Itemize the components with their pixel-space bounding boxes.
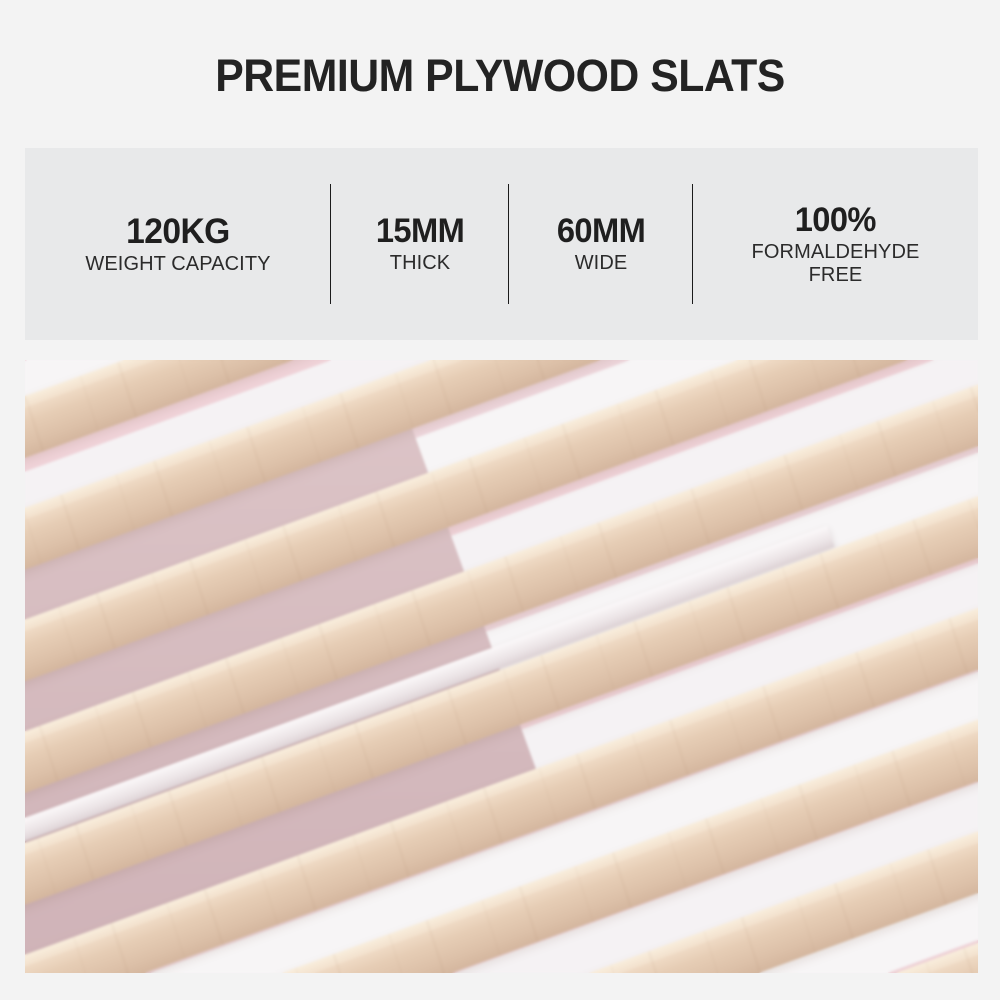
spec-label: WIDE xyxy=(575,252,628,274)
spec-bar: 120KG WEIGHT CAPACITY 15MM THICK 60MM WI… xyxy=(25,148,978,340)
spec-value: 120KG xyxy=(126,213,230,250)
spec-label: THICK xyxy=(390,252,451,274)
plywood-slat xyxy=(25,360,978,698)
spec-item-thickness: 15MM THICK xyxy=(331,148,509,340)
spec-item-width: 60MM WIDE xyxy=(509,148,693,340)
page-title: PREMIUM PLYWOOD SLATS xyxy=(25,50,975,102)
spec-label-line-2: FREE xyxy=(752,264,920,286)
spec-label: WEIGHT CAPACITY xyxy=(85,253,270,275)
spec-value: 60MM xyxy=(557,213,645,249)
spec-value: 100% xyxy=(795,202,876,238)
plywood-slats xyxy=(25,360,978,973)
spec-label-line-1: FORMALDEHYDE xyxy=(752,241,920,263)
spec-item-weight-capacity: 120KG WEIGHT CAPACITY xyxy=(25,148,331,340)
product-photo: AUSTRALIAN STANDARD MATTRESS COMPATIBLE xyxy=(25,360,978,973)
spec-label: FORMALDEHYDE FREE xyxy=(752,241,920,286)
spec-item-formaldehyde-free: 100% FORMALDEHYDE FREE xyxy=(693,148,978,340)
spec-value: 15MM xyxy=(376,213,464,249)
